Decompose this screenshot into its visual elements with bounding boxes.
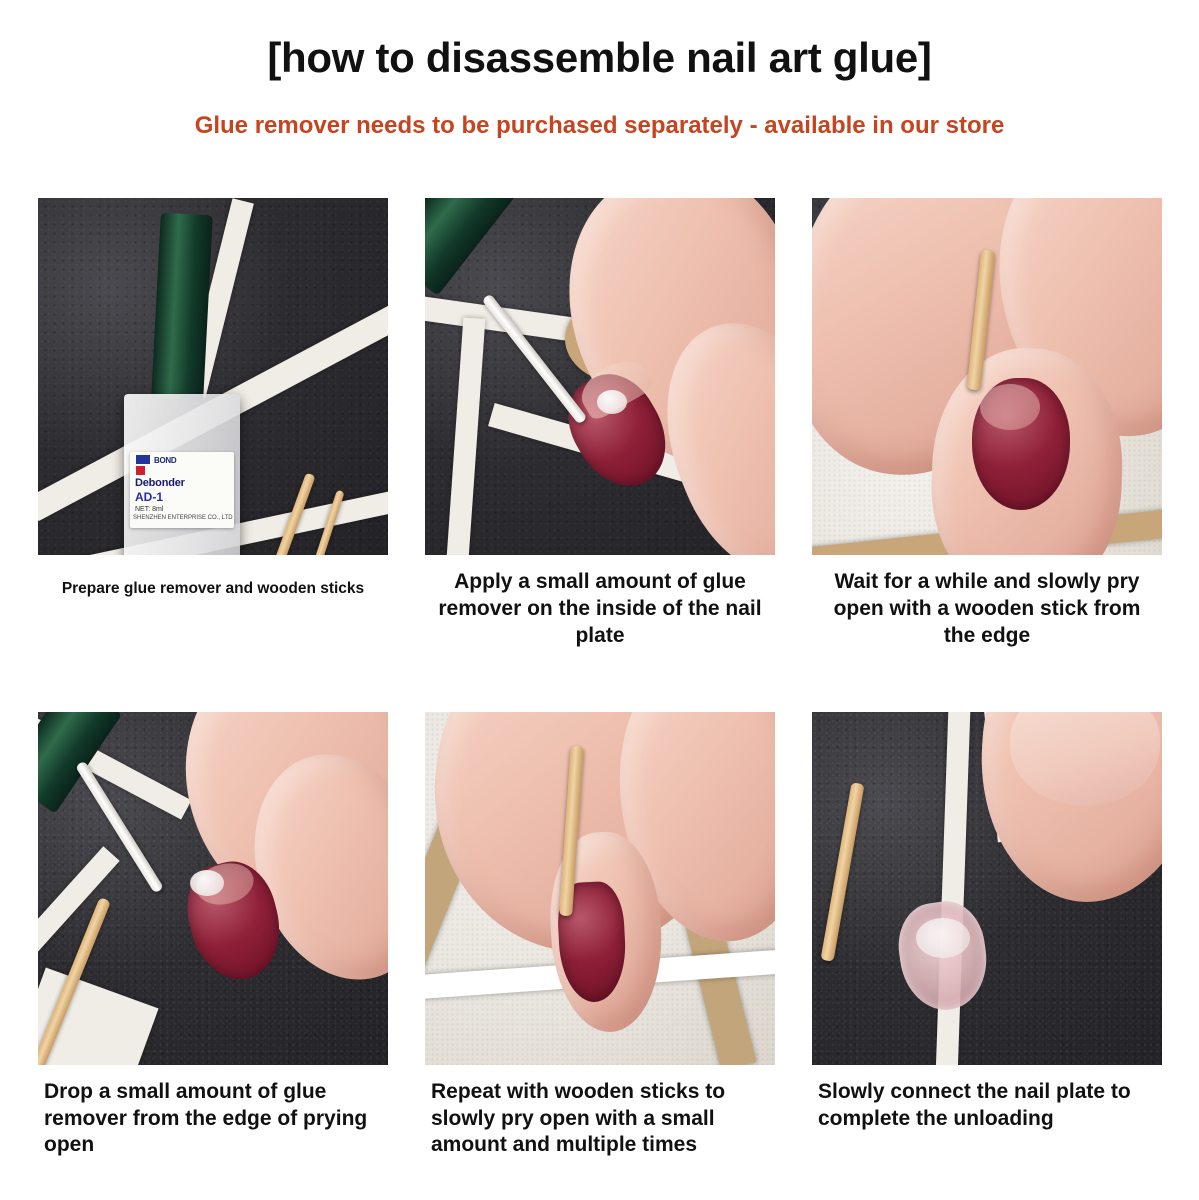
row-spacer xyxy=(38,650,388,712)
step-card-6: Slowly connect the nail plate to complet… xyxy=(812,712,1162,1160)
step-card-4: Drop a small amount of glue remover from… xyxy=(38,712,388,1160)
step-card-1: BOND Debonder AD-1 NET: 8ml SHENZHEN ENT… xyxy=(38,198,388,650)
steps-grid: BOND Debonder AD-1 NET: 8ml SHENZHEN ENT… xyxy=(38,198,1162,1159)
glue-residue xyxy=(916,918,970,958)
step-4-caption: Drop a small amount of glue remover from… xyxy=(38,1079,388,1160)
step-6-caption: Slowly connect the nail plate to complet… xyxy=(812,1079,1162,1133)
infographic-page: [how to disassemble nail art glue] Glue … xyxy=(0,0,1199,1200)
label-brand: BOND xyxy=(154,456,176,465)
bottle-cap xyxy=(151,213,213,401)
step-6-photo-removed-nail-plate xyxy=(812,712,1162,1065)
step-1-caption: Prepare glue remover and wooden sticks xyxy=(38,579,388,599)
nail-highlight xyxy=(980,384,1040,430)
glue-remover-drop xyxy=(597,390,627,414)
row-spacer xyxy=(812,650,1162,712)
step-5-photo-repeat-prying xyxy=(425,712,775,1065)
bottle-label: BOND Debonder AD-1 NET: 8ml SHENZHEN ENT… xyxy=(130,452,234,528)
step-4-photo-drop-remover-at-edge xyxy=(38,712,388,1065)
label-product-code: AD-1 xyxy=(135,490,163,504)
label-product-name: Debonder xyxy=(135,477,185,489)
step-1-photo-glue-remover-and-sticks: BOND Debonder AD-1 NET: 8ml SHENZHEN ENT… xyxy=(38,198,388,555)
page-title: [how to disassemble nail art glue] xyxy=(0,34,1199,82)
step-3-photo-pry-from-edge xyxy=(812,198,1162,555)
step-card-2: Apply a small amount of glue remover on … xyxy=(425,198,775,650)
label-red-mark xyxy=(136,466,145,475)
step-card-3: Wait for a while and slowly pry open wit… xyxy=(812,198,1162,650)
step-3-caption: Wait for a while and slowly pry open wit… xyxy=(812,569,1162,650)
label-company: SHENZHEN ENTERPRISE CO., LTD xyxy=(133,515,233,521)
glue-remover-drop xyxy=(190,870,224,896)
step-5-caption: Repeat with wooden sticks to slowly pry … xyxy=(425,1079,775,1160)
step-card-5: Repeat with wooden sticks to slowly pry … xyxy=(425,712,775,1160)
step-2-caption: Apply a small amount of glue remover on … xyxy=(425,569,775,650)
step-2-photo-apply-remover xyxy=(425,198,775,555)
label-net-volume: NET: 8ml xyxy=(135,506,163,513)
row-spacer xyxy=(425,650,775,712)
page-subtitle: Glue remover needs to be purchased separ… xyxy=(0,112,1199,140)
label-blue-mark xyxy=(136,455,150,464)
